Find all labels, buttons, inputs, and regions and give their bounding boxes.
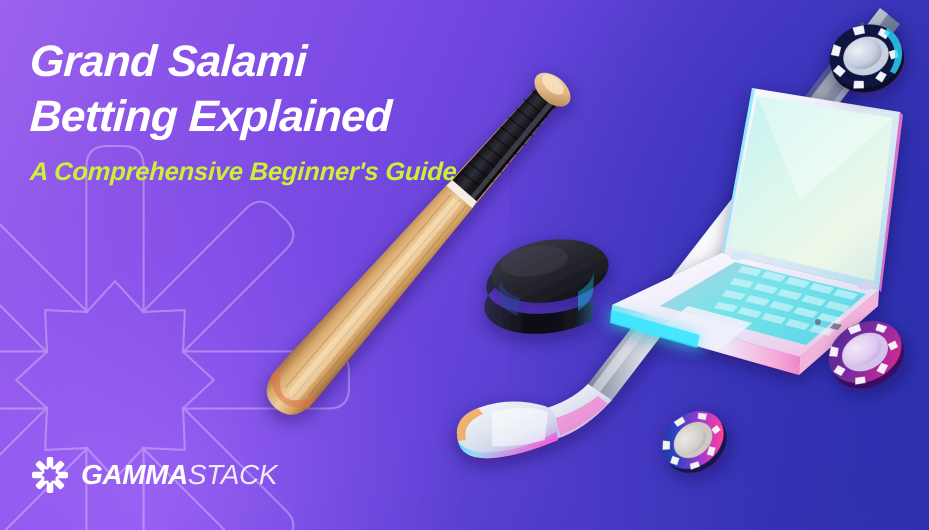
headline-line-1: Grand Salami	[29, 34, 502, 89]
casino-chip-navy-object	[821, 15, 912, 102]
promo-banner: Grand Salami Betting Explained A Compreh…	[0, 0, 929, 530]
headline-line-2: Betting Explained	[29, 89, 502, 144]
background-glow-right	[509, 0, 929, 530]
casino-chip-magenta-object	[818, 309, 914, 400]
headline-block: Grand Salami Betting Explained A Compreh…	[30, 34, 500, 189]
brand-wordmark: GAMMASTACK	[81, 459, 277, 491]
brand-word-gamma: GAMMA	[81, 459, 188, 490]
laptop-object	[610, 88, 903, 375]
starburst-icon	[32, 457, 68, 493]
hockey-puck-object	[484, 232, 613, 334]
brand-word-stack: STACK	[188, 459, 277, 490]
brand-logo[interactable]: GAMMASTACK	[32, 457, 277, 493]
casino-chip-blue-pink-object	[651, 399, 738, 485]
subtitle: A Comprehensive Beginner's Guide	[29, 156, 481, 189]
hockey-stick-object	[457, 8, 900, 458]
